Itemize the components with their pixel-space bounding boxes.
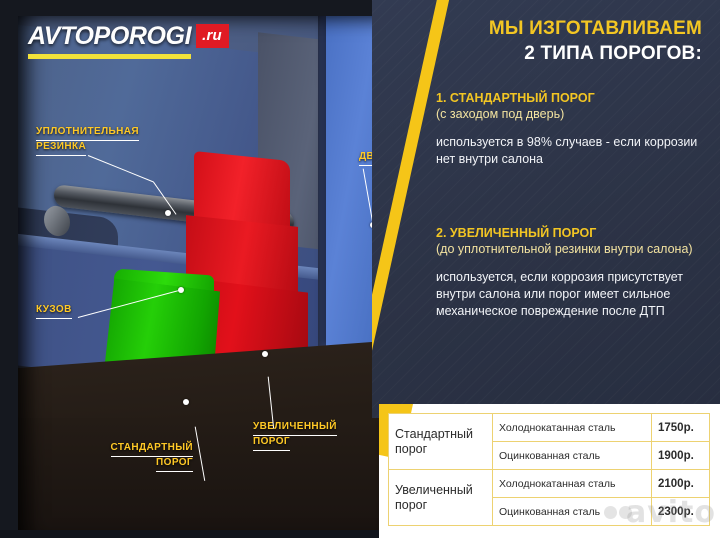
- block-enlarged-sill: 2. УВЕЛИЧЕННЫЙ ПОРОГ (до уплотнительной …: [436, 225, 708, 320]
- leader-dot-seal: [165, 210, 171, 216]
- callout-body-line1: КУЗОВ: [36, 304, 72, 319]
- callout-seal-rubber-line1: УПЛОТНИТЕЛЬНАЯ: [36, 126, 139, 141]
- logo-underline-bar: [28, 54, 191, 59]
- cell-steel-3: Оцинкованная сталь: [493, 498, 652, 526]
- callout-body: КУЗОВ: [36, 304, 72, 319]
- page-title: МЫ ИЗГОТАВЛИВАЕМ 2 ТИПА ПОРОГОВ:: [489, 16, 702, 66]
- block-standard-title: 1. СТАНДАРТНЫЙ ПОРОГ: [436, 90, 708, 106]
- infographic-root: УПЛОТНИТЕЛЬНАЯ РЕЗИНКА КУЗОВ ДВЕРЬ СТАНД…: [0, 0, 720, 538]
- block-enlarged-body: используется, если коррозия присутствует…: [436, 269, 708, 320]
- block-enlarged-title: 2. УВЕЛИЧЕННЫЙ ПОРОГ: [436, 225, 708, 241]
- cell-price-1: 1900р.: [652, 442, 710, 470]
- price-table: Стандартный порог Холоднокатанная сталь …: [388, 413, 710, 526]
- heading-line-2: 2 ТИПА ПОРОГОВ:: [489, 41, 702, 66]
- cell-type-standard: Стандартный порог: [389, 414, 493, 470]
- block-standard-subtitle: (с заходом под дверь): [436, 106, 708, 122]
- callout-enlarged-sill: УВЕЛИЧЕННЫЙ ПОРОГ: [253, 421, 337, 451]
- logo-tld-badge: .ru: [196, 24, 229, 48]
- leader-dot-body: [178, 287, 184, 293]
- callout-enlarged-sill-line1: УВЕЛИЧЕННЫЙ: [253, 421, 337, 436]
- leader-dot-standard: [183, 399, 189, 405]
- table-row: Увеличенный порог Холоднокатанная сталь …: [389, 470, 710, 498]
- cell-price-2: 2100р.: [652, 470, 710, 498]
- price-table-zone: Стандартный порог Холоднокатанная сталь …: [379, 404, 720, 538]
- cell-steel-1: Оцинкованная сталь: [493, 442, 652, 470]
- block-enlarged-subtitle: (до уплотнительной резинки внутри салона…: [436, 241, 708, 257]
- logo-text: AVTOPOROGI: [28, 22, 191, 51]
- heading-line-1: МЫ ИЗГОТАВЛИВАЕМ: [489, 16, 702, 41]
- cell-price-0: 1750р.: [652, 414, 710, 442]
- cell-steel-2: Холоднокатанная сталь: [493, 470, 652, 498]
- callout-enlarged-sill-line2: ПОРОГ: [253, 436, 290, 451]
- cell-type-enlarged: Увеличенный порог: [389, 470, 493, 526]
- logo[interactable]: AVTOPOROGI .ru: [28, 22, 229, 59]
- callout-standard-sill: СТАНДАРТНЫЙ ПОРОГ: [78, 442, 193, 472]
- yellow-diagonal-divider: [372, 0, 462, 418]
- leader-dot-enlarged: [262, 351, 268, 357]
- callout-seal-rubber-line2: РЕЗИНКА: [36, 141, 86, 156]
- block-standard-body: используется в 98% случаев - если корроз…: [436, 134, 708, 168]
- callout-standard-sill-line2: ПОРОГ: [156, 457, 193, 472]
- illustration-frame: УПЛОТНИТЕЛЬНАЯ РЕЗИНКА КУЗОВ ДВЕРЬ СТАНД…: [18, 16, 392, 538]
- callout-standard-sill-line1: СТАНДАРТНЫЙ: [111, 442, 194, 457]
- info-panel: МЫ ИЗГОТАВЛИВАЕМ 2 ТИПА ПОРОГОВ: 1. СТАН…: [372, 0, 720, 418]
- bottom-strip: [0, 530, 392, 538]
- block-standard-sill: 1. СТАНДАРТНЫЙ ПОРОГ (с заходом под двер…: [436, 90, 708, 168]
- cell-steel-0: Холоднокатанная сталь: [493, 414, 652, 442]
- callout-seal-rubber: УПЛОТНИТЕЛЬНАЯ РЕЗИНКА: [36, 126, 139, 156]
- table-row: Стандартный порог Холоднокатанная сталь …: [389, 414, 710, 442]
- logo-wordmark: AVTOPOROGI: [28, 22, 191, 59]
- illustration-panel: УПЛОТНИТЕЛЬНАЯ РЕЗИНКА КУЗОВ ДВЕРЬ СТАНД…: [0, 0, 392, 538]
- cell-price-3: 2300р.: [652, 498, 710, 526]
